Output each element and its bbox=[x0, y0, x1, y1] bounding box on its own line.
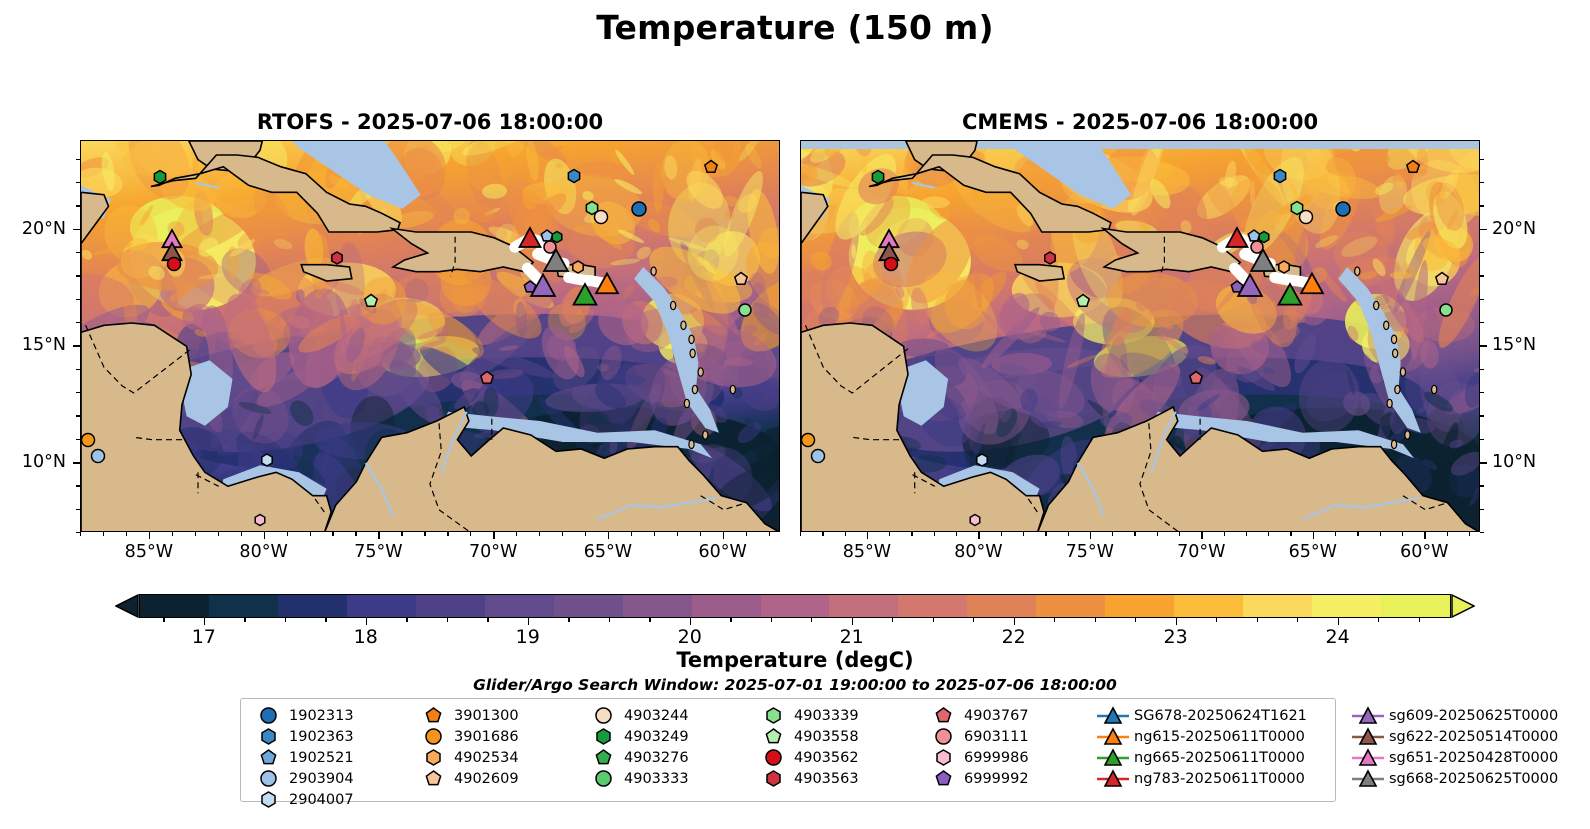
lat-minortick-0 bbox=[76, 275, 80, 276]
legend-item-sg651-20250428T0000[interactable]: sg651-20250428T0000 bbox=[1351, 747, 1558, 768]
legend-label: SG678-20250624T1621 bbox=[1130, 708, 1307, 724]
map-marker-4903249[interactable] bbox=[152, 169, 169, 186]
colorbar-ticklabel-3: 20 bbox=[678, 626, 702, 648]
lon-minortick-0 bbox=[195, 532, 196, 536]
map-marker-4902534[interactable] bbox=[1276, 259, 1292, 275]
lat-minortick-1 bbox=[1480, 182, 1484, 183]
lon-minortick-0 bbox=[769, 532, 770, 536]
colorbar-band-8 bbox=[692, 595, 763, 617]
lon-minortick-1 bbox=[845, 532, 846, 536]
lon-minortick-0 bbox=[172, 532, 173, 536]
map-marker-4903767[interactable] bbox=[479, 369, 496, 386]
lon-minortick-1 bbox=[889, 532, 890, 536]
map-marker-4902534[interactable] bbox=[570, 259, 586, 275]
legend-label: 4903563 bbox=[790, 771, 859, 787]
lon-minortick-1 bbox=[800, 532, 801, 536]
colorbar-band-11 bbox=[898, 595, 969, 617]
legend-item-6999992[interactable]: 6999992 bbox=[926, 768, 1029, 789]
island-antilles-2 bbox=[1384, 321, 1389, 329]
legend-marker-circle-icon bbox=[251, 769, 285, 788]
map-marker-4903563[interactable] bbox=[329, 250, 345, 266]
map-marker-ng665[interactable] bbox=[1276, 282, 1304, 310]
legend-marker-hexagon-icon bbox=[926, 748, 960, 767]
island-antilles-1 bbox=[1374, 301, 1379, 309]
legend-marker-glider-icon bbox=[1351, 727, 1385, 747]
legend-marker-glider-icon bbox=[1096, 748, 1130, 768]
map-marker-2904007[interactable] bbox=[259, 452, 275, 468]
map-marker-2904007[interactable] bbox=[974, 452, 990, 468]
map-marker-6999986[interactable] bbox=[967, 513, 982, 528]
lat-minortick-0 bbox=[76, 509, 80, 510]
legend-label: 4903562 bbox=[790, 750, 859, 766]
lon-minortick-1 bbox=[911, 532, 912, 536]
map-marker-4903333[interactable] bbox=[737, 302, 753, 318]
legend-item-sg668-20250625T0000[interactable]: sg668-20250625T0000 bbox=[1351, 768, 1558, 789]
island-antilles-5 bbox=[1400, 368, 1405, 376]
island-antilles-8 bbox=[1432, 385, 1437, 393]
lon-minortick-0 bbox=[585, 532, 586, 536]
legend-marker-pentagon-icon bbox=[756, 727, 790, 746]
colorbar-minortick bbox=[1216, 618, 1217, 622]
legend-label: sg609-20250625T0000 bbox=[1385, 708, 1558, 724]
legend-label: 4902534 bbox=[450, 750, 519, 766]
lat-tick-0-2 bbox=[73, 229, 80, 231]
colorbar-minortick bbox=[1095, 618, 1096, 622]
colorbar-arrow-high bbox=[1451, 594, 1475, 618]
lon-tick-1-3 bbox=[1201, 532, 1203, 539]
lat-minortick-0 bbox=[76, 369, 80, 370]
legend-item-4902609[interactable]: 4902609 bbox=[416, 768, 519, 789]
lon-minortick-0 bbox=[654, 532, 655, 536]
map-marker-3901300[interactable] bbox=[703, 158, 720, 175]
legend-label: 3901686 bbox=[450, 729, 519, 745]
map-marker-4902609[interactable] bbox=[1433, 270, 1450, 287]
lon-tick-1-0 bbox=[867, 532, 869, 539]
legend-item-4903244[interactable]: 4903244 bbox=[586, 705, 689, 726]
legend-item-1902521[interactable]: 1902521 bbox=[251, 747, 354, 768]
legend-item-4903562[interactable]: 4903562 bbox=[756, 747, 859, 768]
lon-minortick-0 bbox=[470, 532, 471, 536]
lat-minortick-0 bbox=[76, 205, 80, 206]
lon-minortick-0 bbox=[746, 532, 747, 536]
legend-label: 4903767 bbox=[960, 708, 1029, 724]
lat-ticklabel-1-2: 20°N bbox=[1492, 219, 1536, 239]
figure-title: Temperature (150 m) bbox=[0, 8, 1590, 47]
map-marker-2903904[interactable] bbox=[90, 448, 107, 465]
map-marker-sg609[interactable] bbox=[1236, 272, 1265, 301]
legend-item-sg622-20250514T0000[interactable]: sg622-20250514T0000 bbox=[1351, 726, 1558, 747]
lon-minortick-1 bbox=[1469, 532, 1470, 536]
legend-marker-pentagon-icon bbox=[416, 706, 450, 725]
lat-minortick-1 bbox=[1480, 439, 1484, 440]
colorbar-minortick bbox=[1054, 618, 1055, 622]
island-antilles-2 bbox=[681, 321, 686, 329]
colorbar-tick-1 bbox=[366, 618, 368, 625]
lon-minortick-0 bbox=[700, 532, 701, 536]
island-antilles-9 bbox=[703, 431, 708, 439]
legend-marker-glider-icon bbox=[1351, 748, 1385, 768]
lon-minortick-1 bbox=[1023, 532, 1024, 536]
legend-label: 4903333 bbox=[620, 771, 689, 787]
lon-tick-0-5 bbox=[723, 532, 725, 539]
legend-label: sg622-20250514T0000 bbox=[1385, 729, 1558, 745]
colorbar-band-12 bbox=[967, 595, 1038, 617]
legend-label: ng783-20250611T0000 bbox=[1130, 771, 1305, 787]
colorbar-minortick bbox=[325, 618, 326, 622]
lon-minortick-1 bbox=[1335, 532, 1336, 536]
colorbar-band-3 bbox=[347, 595, 418, 617]
lon-minortick-1 bbox=[1246, 532, 1247, 536]
lon-tick-1-5 bbox=[1424, 532, 1426, 539]
legend-label: 1902521 bbox=[285, 750, 354, 766]
legend-label: 2904007 bbox=[285, 792, 354, 808]
lon-minortick-1 bbox=[1290, 532, 1291, 536]
lat-ticklabel-0-0: 10°N bbox=[22, 452, 66, 472]
lon-tick-1-4 bbox=[1313, 532, 1315, 539]
lat-minortick-1 bbox=[1480, 509, 1484, 510]
figure-root: Temperature (150 m) RTOFS - 2025-07-06 1… bbox=[0, 0, 1590, 829]
colorbar-band-0 bbox=[140, 595, 211, 617]
island-antilles-6 bbox=[692, 385, 697, 393]
colorbar-band-7 bbox=[623, 595, 694, 617]
island-antilles-7 bbox=[1387, 399, 1392, 407]
colorbar bbox=[115, 594, 1475, 618]
legend-marker-hexagon-icon bbox=[756, 769, 790, 788]
lon-tick-0-3 bbox=[493, 532, 495, 539]
lon-minortick-0 bbox=[126, 532, 127, 536]
legend-label: ng615-20250611T0000 bbox=[1130, 729, 1305, 745]
lon-ticklabel-1-1: 80°W bbox=[954, 542, 1002, 562]
lon-minortick-1 bbox=[1402, 532, 1403, 536]
lat-minortick-0 bbox=[76, 439, 80, 440]
map-marker-ng783[interactable] bbox=[517, 226, 543, 252]
legend-item-ng665-20250611T0000[interactable]: ng665-20250611T0000 bbox=[1096, 747, 1307, 768]
lon-minortick-0 bbox=[103, 532, 104, 536]
lat-minortick-0 bbox=[76, 182, 80, 183]
legend-item-4903249[interactable]: 4903249 bbox=[586, 726, 689, 747]
legend-item-4903563[interactable]: 4903563 bbox=[756, 768, 859, 789]
colorbar-minortick bbox=[1257, 618, 1258, 622]
map-marker-2903904[interactable] bbox=[809, 448, 826, 465]
colorbar-title: Temperature (degC) bbox=[0, 648, 1590, 672]
lon-minortick-0 bbox=[424, 532, 425, 536]
colorbar-minortick bbox=[933, 618, 934, 622]
lat-minortick-1 bbox=[1480, 369, 1484, 370]
map-marker-1902313[interactable] bbox=[1334, 200, 1352, 218]
colorbar-tick-6 bbox=[1176, 618, 1178, 625]
lat-minortick-1 bbox=[1480, 252, 1484, 253]
map-cmems[interactable] bbox=[800, 140, 1480, 532]
lon-minortick-0 bbox=[310, 532, 311, 536]
map-marker-4902609[interactable] bbox=[732, 270, 749, 287]
island-antilles-0 bbox=[1355, 267, 1360, 275]
lon-tick-0-2 bbox=[378, 532, 380, 539]
lat-minortick-0 bbox=[76, 485, 80, 486]
colorbar-minortick bbox=[447, 618, 448, 622]
lat-ticklabel-0-1: 15°N bbox=[22, 335, 66, 355]
legend-marker-circle-icon bbox=[926, 727, 960, 746]
island-antilles-10 bbox=[689, 440, 694, 448]
colorbar-ticklabel-4: 21 bbox=[840, 626, 864, 648]
lon-ticklabel-1-0: 85°W bbox=[843, 542, 891, 562]
island-antilles-4 bbox=[690, 349, 695, 357]
colorbar-band-13 bbox=[1036, 595, 1107, 617]
lat-minortick-0 bbox=[76, 532, 80, 533]
island-antilles-0 bbox=[651, 267, 656, 275]
island-antilles-8 bbox=[730, 385, 735, 393]
legend-column-4: 4903767690311169999866999992 bbox=[926, 705, 1029, 789]
lon-minortick-1 bbox=[1268, 532, 1269, 536]
map-marker-6999986[interactable] bbox=[253, 513, 268, 528]
colorbar-minortick bbox=[1135, 618, 1136, 622]
lon-minortick-1 bbox=[1157, 532, 1158, 536]
legend-column-5: SG678-20250624T1621ng615-20250611T0000ng… bbox=[1096, 705, 1307, 789]
legend-item-6903111[interactable]: 6903111 bbox=[926, 726, 1029, 747]
legend-item-3901686[interactable]: 3901686 bbox=[416, 726, 519, 747]
colorbar-minortick bbox=[973, 618, 974, 622]
colorbar-tick-0 bbox=[204, 618, 206, 625]
lon-minortick-0 bbox=[401, 532, 402, 536]
legend-label: 4903339 bbox=[790, 708, 859, 724]
lat-tick-1-2 bbox=[1480, 229, 1487, 231]
lon-minortick-1 bbox=[822, 532, 823, 536]
legend-item-sg609-20250625T0000[interactable]: sg609-20250625T0000 bbox=[1351, 705, 1558, 726]
map-marker-4903558[interactable] bbox=[1075, 292, 1092, 309]
lon-ticklabel-1-5: 60°W bbox=[1400, 542, 1448, 562]
lon-minortick-0 bbox=[355, 532, 356, 536]
colorbar-band-2 bbox=[278, 595, 349, 617]
lon-ticklabel-0-4: 65°W bbox=[584, 542, 632, 562]
island-antilles-5 bbox=[698, 368, 703, 376]
legend-marker-circle-icon bbox=[586, 706, 620, 725]
lon-minortick-1 bbox=[1068, 532, 1069, 536]
legend: 1902313190236319025212903904290400739013… bbox=[240, 698, 1336, 802]
legend-item-4902534[interactable]: 4902534 bbox=[416, 747, 519, 768]
legend-item-2904007[interactable]: 2904007 bbox=[251, 789, 354, 810]
lon-ticklabel-0-3: 70°W bbox=[469, 542, 517, 562]
map-marker-4903244[interactable] bbox=[1297, 208, 1314, 225]
island-antilles-3 bbox=[689, 335, 694, 343]
map-marker-4903563[interactable] bbox=[1042, 250, 1058, 266]
legend-marker-pentagon-icon bbox=[416, 769, 450, 788]
lon-minortick-0 bbox=[241, 532, 242, 536]
map-rtofs[interactable] bbox=[80, 140, 780, 532]
lon-minortick-1 bbox=[934, 532, 935, 536]
colorbar-tick-2 bbox=[528, 618, 530, 625]
colorbar-minortick bbox=[609, 618, 610, 622]
colorbar-minortick bbox=[406, 618, 407, 622]
island-antilles-1 bbox=[671, 301, 676, 309]
legend-column-0: 19023131902363190252129039042904007 bbox=[251, 705, 354, 810]
legend-label: 6903111 bbox=[960, 729, 1029, 745]
colorbar-minortick bbox=[568, 618, 569, 622]
legend-label: 4903558 bbox=[790, 729, 859, 745]
colorbar-ticklabel-6: 23 bbox=[1164, 626, 1188, 648]
legend-marker-glider-icon bbox=[1096, 706, 1130, 726]
legend-item-2903904[interactable]: 2903904 bbox=[251, 768, 354, 789]
lat-minortick-1 bbox=[1480, 485, 1484, 486]
colorbar-ticklabel-0: 17 bbox=[192, 626, 216, 648]
lon-tick-0-1 bbox=[264, 532, 266, 539]
lat-minortick-1 bbox=[1480, 205, 1484, 206]
lon-ticklabel-0-5: 60°W bbox=[698, 542, 746, 562]
lat-minortick-1 bbox=[1480, 415, 1484, 416]
lat-tick-1-1 bbox=[1480, 345, 1487, 347]
colorbar-band-18 bbox=[1381, 595, 1451, 617]
colorbar-minortick bbox=[163, 618, 164, 622]
legend-item-4903333[interactable]: 4903333 bbox=[586, 768, 689, 789]
legend-item-4903558[interactable]: 4903558 bbox=[756, 726, 859, 747]
colorbar-ticklabel-1: 18 bbox=[354, 626, 378, 648]
lat-ticklabel-0-2: 20°N bbox=[22, 219, 66, 239]
legend-label: 6999992 bbox=[960, 771, 1029, 787]
colorbar-band-10 bbox=[829, 595, 900, 617]
lat-minortick-1 bbox=[1480, 159, 1484, 160]
colorbar-band-15 bbox=[1174, 595, 1245, 617]
lon-ticklabel-1-4: 65°W bbox=[1289, 542, 1337, 562]
legend-label: sg668-20250625T0000 bbox=[1385, 771, 1558, 787]
colorbar-band-16 bbox=[1243, 595, 1314, 617]
legend-marker-glider-icon bbox=[1096, 769, 1130, 789]
map-marker-4903767[interactable] bbox=[1187, 369, 1204, 386]
legend-label: 1902363 bbox=[285, 729, 354, 745]
map-marker-4903562[interactable] bbox=[883, 255, 900, 272]
colorbar-minortick bbox=[771, 618, 772, 622]
colorbar-ticklabel-2: 19 bbox=[516, 626, 540, 648]
lon-minortick-1 bbox=[1134, 532, 1135, 536]
map-marker-sg609[interactable] bbox=[529, 272, 558, 301]
island-antilles-6 bbox=[1395, 385, 1400, 393]
lat-tick-1-0 bbox=[1480, 462, 1487, 464]
legend-label: 4903276 bbox=[620, 750, 689, 766]
lon-minortick-1 bbox=[1357, 532, 1358, 536]
island-antilles-9 bbox=[1405, 431, 1410, 439]
colorbar-band-4 bbox=[416, 595, 487, 617]
lat-minortick-0 bbox=[76, 415, 80, 416]
map-marker-1902313[interactable] bbox=[630, 200, 648, 218]
lon-tick-0-4 bbox=[608, 532, 610, 539]
legend-marker-glider-icon bbox=[1096, 727, 1130, 747]
legend-marker-glider-icon bbox=[1351, 706, 1385, 726]
map-marker-4903244[interactable] bbox=[592, 208, 609, 225]
legend-marker-pentagon-icon bbox=[251, 748, 285, 767]
colorbar-minortick bbox=[811, 618, 812, 622]
colorbar-tick-3 bbox=[690, 618, 692, 625]
legend-marker-circle-icon bbox=[756, 748, 790, 767]
colorbar-band-9 bbox=[761, 595, 832, 617]
legend-label: sg651-20250428T0000 bbox=[1385, 750, 1558, 766]
map-marker-1902363[interactable] bbox=[566, 168, 583, 185]
legend-column-2: 4903244490324949032764903333 bbox=[586, 705, 689, 789]
panel-title-rtofs: RTOFS - 2025-07-06 18:00:00 bbox=[80, 110, 780, 134]
map-marker-3901300[interactable] bbox=[1405, 158, 1422, 175]
island-antilles-3 bbox=[1391, 335, 1396, 343]
legend-label: 1902313 bbox=[285, 708, 354, 724]
legend-marker-pentagon-icon bbox=[926, 769, 960, 788]
legend-item-1902313[interactable]: 1902313 bbox=[251, 705, 354, 726]
map-marker-1902363[interactable] bbox=[1272, 168, 1289, 185]
lon-minortick-1 bbox=[1380, 532, 1381, 536]
lon-minortick-1 bbox=[1179, 532, 1180, 536]
lat-minortick-1 bbox=[1480, 322, 1484, 323]
legend-marker-glider-icon bbox=[1351, 769, 1385, 789]
panel-title-cmems: CMEMS - 2025-07-06 18:00:00 bbox=[800, 110, 1480, 134]
legend-item-ng615-20250611T0000[interactable]: ng615-20250611T0000 bbox=[1096, 726, 1307, 747]
colorbar-minortick bbox=[892, 618, 893, 622]
legend-item-4903767[interactable]: 4903767 bbox=[926, 705, 1029, 726]
map-marker-4903249[interactable] bbox=[869, 169, 886, 186]
lat-ticklabel-1-0: 10°N bbox=[1492, 452, 1536, 472]
legend-item-3901300[interactable]: 3901300 bbox=[416, 705, 519, 726]
legend-label: ng665-20250611T0000 bbox=[1130, 750, 1305, 766]
legend-item-4903276[interactable]: 4903276 bbox=[586, 747, 689, 768]
lon-tick-1-2 bbox=[1090, 532, 1092, 539]
island-antilles-7 bbox=[684, 399, 689, 407]
lon-minortick-0 bbox=[332, 532, 333, 536]
legend-marker-circle-icon bbox=[251, 706, 285, 725]
legend-marker-pentagon-icon bbox=[586, 748, 620, 767]
colorbar-minortick bbox=[487, 618, 488, 622]
lat-tick-0-1 bbox=[73, 345, 80, 347]
lon-minortick-0 bbox=[447, 532, 448, 536]
legend-marker-circle-icon bbox=[416, 727, 450, 746]
legend-item-ng783-20250611T0000[interactable]: ng783-20250611T0000 bbox=[1096, 768, 1307, 789]
legend-item-1902363[interactable]: 1902363 bbox=[251, 726, 354, 747]
legend-item-6999986[interactable]: 6999986 bbox=[926, 747, 1029, 768]
colorbar-band-6 bbox=[554, 595, 625, 617]
lon-ticklabel-0-1: 80°W bbox=[239, 542, 287, 562]
lat-minortick-0 bbox=[76, 392, 80, 393]
legend-marker-hexagon-icon bbox=[251, 727, 285, 746]
lat-tick-0-0 bbox=[73, 462, 80, 464]
map-marker-3901686[interactable] bbox=[80, 431, 96, 448]
colorbar-tick-5 bbox=[1014, 618, 1016, 625]
lon-minortick-1 bbox=[1447, 532, 1448, 536]
island-antilles-4 bbox=[1393, 349, 1398, 357]
legend-marker-hexagon-icon bbox=[251, 790, 285, 809]
search-window-text: Glider/Argo Search Window: 2025-07-01 19… bbox=[0, 676, 1590, 694]
colorbar-body bbox=[139, 594, 1451, 618]
legend-label: 3901300 bbox=[450, 708, 519, 724]
lon-minortick-1 bbox=[1045, 532, 1046, 536]
map-marker-4903558[interactable] bbox=[363, 292, 380, 309]
island-antilles-10 bbox=[1391, 440, 1396, 448]
legend-column-1: 3901300390168649025344902609 bbox=[416, 705, 519, 789]
lon-tick-0-0 bbox=[149, 532, 151, 539]
legend-item-4903339[interactable]: 4903339 bbox=[756, 705, 859, 726]
lon-minortick-0 bbox=[80, 532, 81, 536]
colorbar-minortick bbox=[1419, 618, 1420, 622]
map-marker-ng783[interactable] bbox=[1224, 226, 1250, 252]
lon-minortick-1 bbox=[956, 532, 957, 536]
colorbar-band-17 bbox=[1312, 595, 1383, 617]
map-marker-4903562[interactable] bbox=[165, 255, 182, 272]
legend-item-SG678-20250624T1621[interactable]: SG678-20250624T1621 bbox=[1096, 705, 1307, 726]
map-marker-4903333[interactable] bbox=[1438, 302, 1454, 318]
lon-minortick-0 bbox=[562, 532, 563, 536]
legend-marker-circle-icon bbox=[586, 769, 620, 788]
colorbar-arrow-low bbox=[115, 594, 139, 618]
legend-marker-hexagon-icon bbox=[586, 727, 620, 746]
map-marker-3901686[interactable] bbox=[800, 431, 816, 448]
legend-column-6: sg609-20250625T0000sg622-20250514T0000sg… bbox=[1351, 705, 1558, 789]
lat-minortick-1 bbox=[1480, 392, 1484, 393]
lat-minortick-0 bbox=[76, 252, 80, 253]
legend-marker-hexagon-icon bbox=[416, 748, 450, 767]
lon-tick-1-1 bbox=[978, 532, 980, 539]
map-marker-ng665[interactable] bbox=[571, 282, 599, 310]
legend-label: 4903244 bbox=[620, 708, 689, 724]
